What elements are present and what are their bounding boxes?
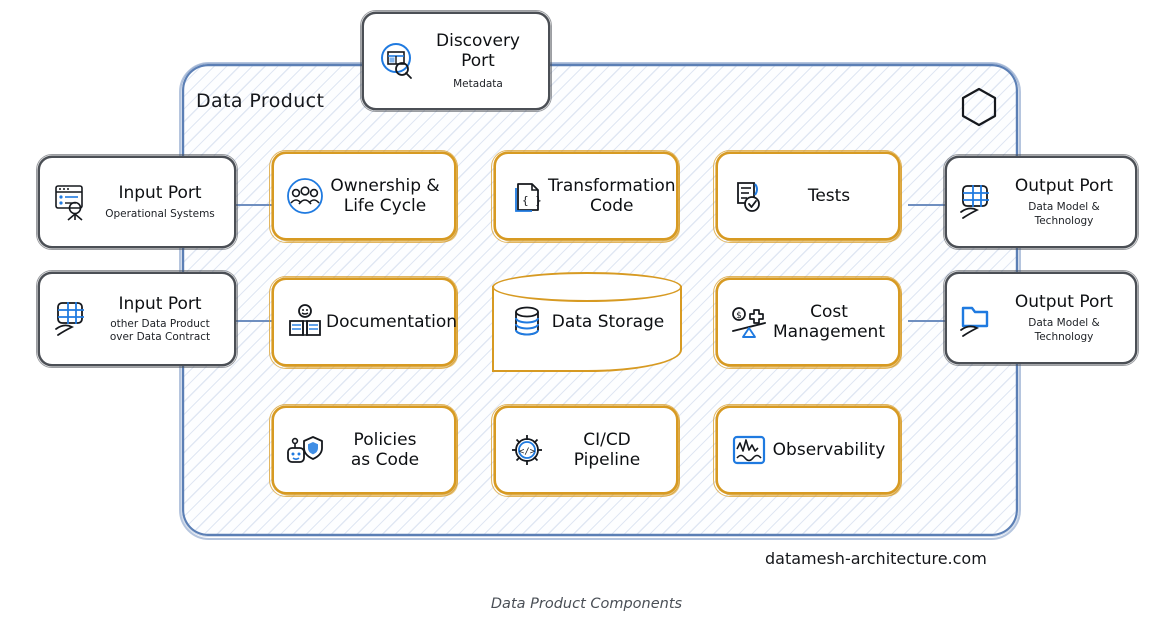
people-circle-icon — [284, 175, 326, 217]
component-data-storage[interactable]: Data Storage — [492, 272, 682, 372]
component-observability[interactable]: Observability — [716, 406, 900, 494]
gear-code-icon: </> — [506, 429, 548, 471]
checklist-check-icon — [728, 175, 770, 217]
cost-balance-icon: $ — [728, 301, 770, 343]
folder-hand-icon — [955, 296, 1001, 340]
component-title: Transformation Code — [548, 176, 676, 216]
page-title: Data Product — [196, 90, 324, 112]
code-file-icon: { } — [506, 175, 548, 217]
database-icon — [506, 301, 548, 343]
input-port-title: Input Port — [118, 183, 201, 203]
component-tests[interactable]: Tests — [716, 152, 900, 240]
output-port-subtitle: Data Model & Technology — [1001, 317, 1127, 343]
hexagon-icon — [958, 86, 1000, 128]
discovery-port-card[interactable]: Discovery Port Metadata — [362, 12, 550, 110]
output-port-title: Output Port — [1015, 292, 1113, 312]
component-title: Data Storage — [552, 312, 665, 332]
component-title: Documentation — [326, 312, 457, 332]
browser-user-icon — [50, 180, 96, 224]
component-documentation[interactable]: Documentation — [272, 278, 456, 366]
component-title: Observability — [773, 440, 886, 460]
dashboard-magnifier-icon — [376, 39, 420, 83]
output-port-subtitle: Data Model & Technology — [1001, 201, 1127, 227]
input-port-operational-systems[interactable]: Input Port Operational Systems — [38, 156, 236, 248]
component-ownership-life-cycle[interactable]: Ownership & Life Cycle — [272, 152, 456, 240]
output-port-title: Output Port — [1015, 176, 1113, 196]
discovery-port-title: Discovery Port — [420, 31, 536, 71]
open-book-icon — [284, 301, 326, 343]
component-policies-as-code[interactable]: Policies as Code — [272, 406, 456, 494]
input-port-title: Input Port — [118, 294, 201, 314]
component-transformation-code[interactable]: { } Transformation Code — [494, 152, 678, 240]
site-url-label: datamesh-architecture.com — [765, 549, 987, 568]
discovery-port-subtitle: Metadata — [453, 78, 503, 91]
component-cicd-pipeline[interactable]: </> CI/CD Pipeline — [494, 406, 678, 494]
robot-shield-icon — [284, 429, 326, 471]
svg-text:{ }: { } — [522, 194, 542, 207]
output-port-data-model-1[interactable]: Output Port Data Model & Technology — [945, 156, 1137, 248]
chart-waveform-icon — [728, 429, 770, 471]
svg-text:</>: </> — [519, 447, 536, 457]
database-hand-icon — [955, 180, 1001, 224]
diagram-canvas: Data Product Discovery Port Metadata — [0, 0, 1173, 631]
component-title: Cost Management — [773, 302, 885, 342]
component-title: Policies as Code — [351, 430, 419, 470]
input-port-subtitle: Operational Systems — [105, 208, 215, 221]
input-port-data-contract[interactable]: Input Port other Data Product over Data … — [38, 272, 236, 366]
database-hand-icon — [50, 297, 96, 341]
component-cost-management[interactable]: $ Cost Management — [716, 278, 900, 366]
component-title: Tests — [808, 186, 850, 206]
svg-text:$: $ — [736, 311, 742, 321]
component-title: Ownership & Life Cycle — [330, 176, 439, 216]
component-title: CI/CD Pipeline — [548, 430, 666, 470]
input-port-subtitle: other Data Product over Data Contract — [110, 318, 210, 344]
output-port-data-model-2[interactable]: Output Port Data Model & Technology — [945, 272, 1137, 364]
figure-caption: Data Product Components — [0, 596, 1173, 612]
